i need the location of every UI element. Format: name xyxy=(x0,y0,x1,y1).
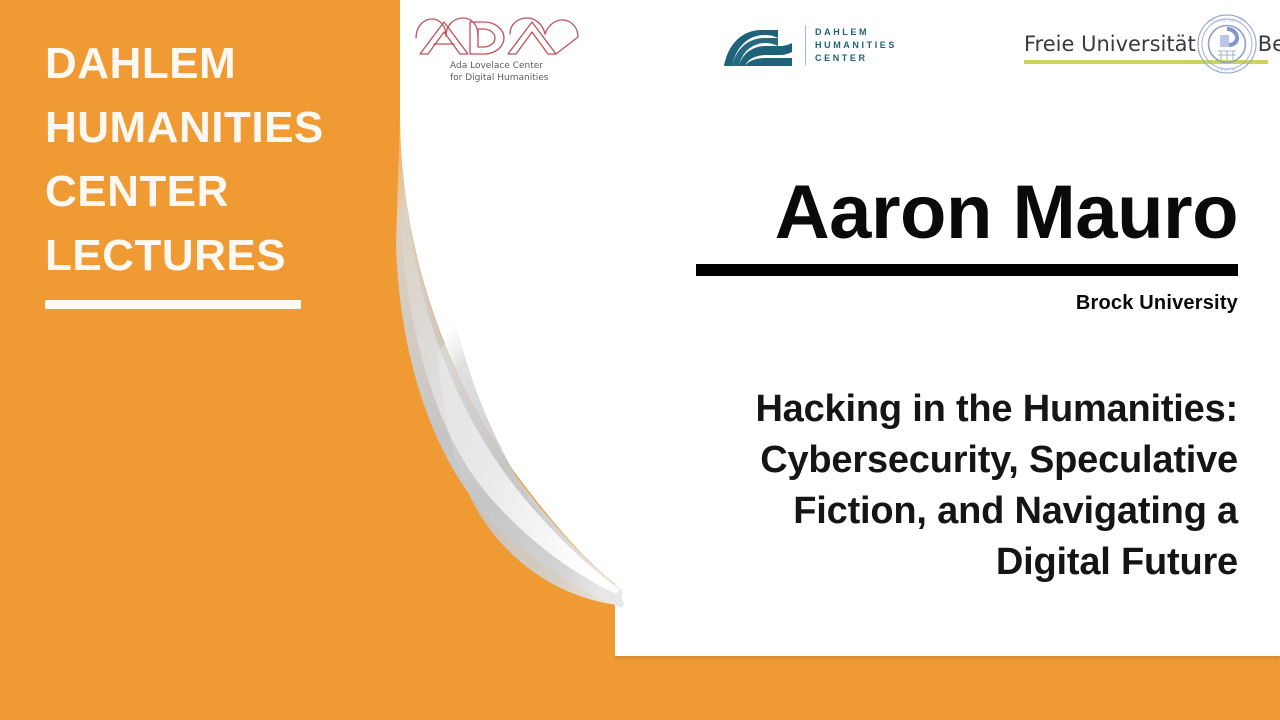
lecture-title-slide: DAHLEM HUMANITIES CENTER LECTURES xyxy=(0,0,1280,720)
dhc-text-line-1: DAHLEM xyxy=(815,26,897,39)
ada-wordmark-icon xyxy=(410,16,585,58)
fu-word-right: Berlin xyxy=(1258,32,1280,56)
lecture-title: Hacking in the Humanities: Cybersecurity… xyxy=(678,384,1238,588)
series-brand-line-1: DAHLEM xyxy=(45,32,375,96)
lecture-title-line-4: Digital Future xyxy=(678,537,1238,588)
dhc-text-block: DAHLEM HUMANITIES CENTER xyxy=(815,26,897,65)
series-brand-line-4: LECTURES xyxy=(45,224,375,288)
speaker-name-rule xyxy=(696,264,1238,276)
svg-text:VERITAS IUSTITIA: VERITAS IUSTITIA xyxy=(1207,19,1246,23)
dhc-divider xyxy=(805,25,806,65)
speaker-affiliation: Brock University xyxy=(678,290,1238,316)
ada-subtitle-line-1: Ada Lovelace Center xyxy=(450,60,585,72)
series-brand-block: DAHLEM HUMANITIES CENTER LECTURES xyxy=(45,32,375,309)
series-brand-line-3: CENTER xyxy=(45,160,375,224)
dhc-wave-mark-icon xyxy=(718,18,796,72)
freie-universitaet-berlin-logo: Freie Universität VERITAS IUSTITIA xyxy=(1024,22,1268,64)
series-brand-underline xyxy=(45,300,301,309)
lecture-title-line-2: Cybersecurity, Speculative xyxy=(678,435,1238,486)
speaker-name: Aaron Mauro xyxy=(678,170,1238,256)
series-brand-line-2: HUMANITIES xyxy=(45,96,375,160)
dahlem-humanities-center-logo: DAHLEM HUMANITIES CENTER xyxy=(718,18,897,72)
dhc-text-line-3: CENTER xyxy=(815,52,897,65)
svg-text:LIBERTAS: LIBERTAS xyxy=(1216,68,1237,72)
lecture-content: Aaron Mauro Brock University Hacking in … xyxy=(678,170,1238,588)
partner-logo-bar: Ada Lovelace Center for Digital Humaniti… xyxy=(396,0,1280,96)
dhc-text-line-2: HUMANITIES xyxy=(815,39,897,52)
ada-subtitle-line-2: for Digital Humanities xyxy=(450,72,585,84)
fu-berlin-seal-icon: VERITAS IUSTITIA LIBERTAS xyxy=(1196,13,1258,75)
ada-lovelace-center-logo: Ada Lovelace Center for Digital Humaniti… xyxy=(410,16,585,84)
fu-word-left: Freie Universität xyxy=(1024,32,1196,56)
lecture-title-line-1: Hacking in the Humanities: xyxy=(678,384,1238,435)
ada-subtitle: Ada Lovelace Center for Digital Humaniti… xyxy=(450,60,585,84)
lecture-title-line-3: Fiction, and Navigating a xyxy=(678,486,1238,537)
